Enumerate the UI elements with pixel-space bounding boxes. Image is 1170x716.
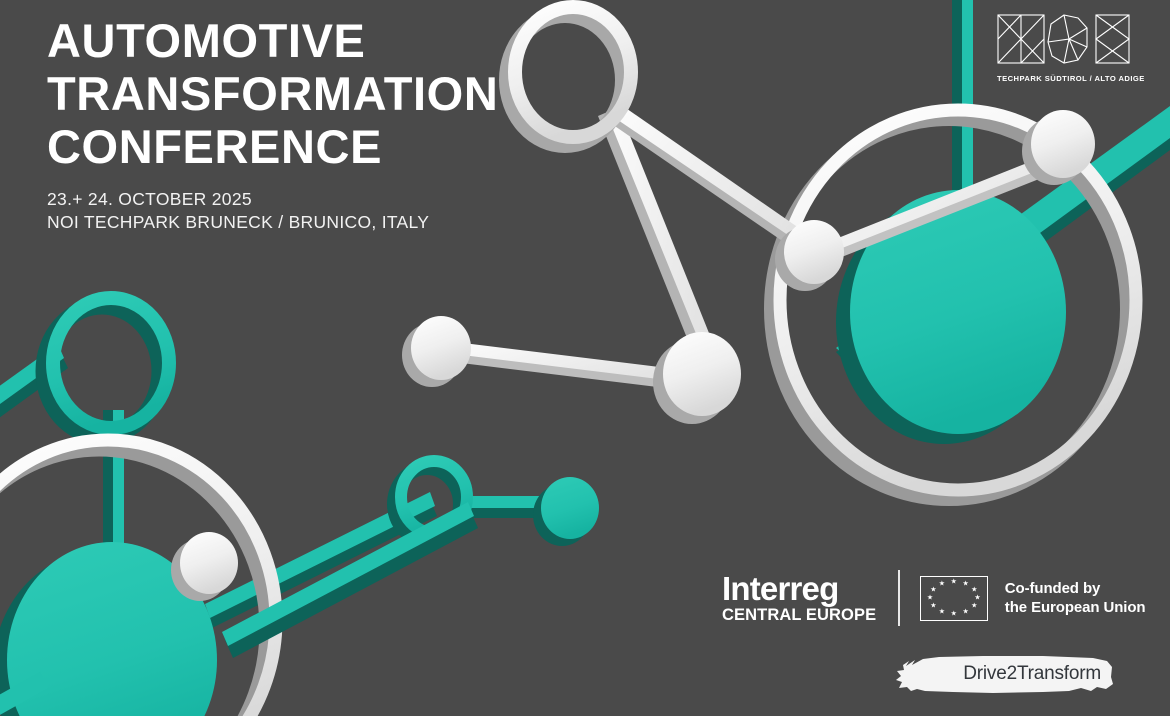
white-node-bottom-left [171,532,238,601]
european-union-flag-icon: ★ ★ ★ ★ ★ ★ ★ ★ ★ ★ ★ ★ [920,576,988,621]
noi-logo-caption: TECHPARK SÜDTIROL / ALTO ADIGE [997,74,1130,83]
cofunded-line-2: the European Union [1005,598,1146,617]
event-details: 23.+ 24. OCTOBER 2025 NOI TECHPARK BRUNE… [47,188,429,234]
noi-wordmark-icon [997,14,1130,66]
cofunded-text: Co-funded by the European Union [1005,579,1146,617]
headline-line-1: AUTOMOTIVE [47,14,687,67]
interreg-program-label: CENTRAL EUROPE [722,606,876,625]
interreg-label: Interreg [722,572,876,606]
teal-node-bottom-center [533,477,599,546]
noi-techpark-logo[interactable]: TECHPARK SÜDTIROL / ALTO ADIGE [997,14,1130,83]
white-node-center [653,332,741,424]
interreg-funding-block[interactable]: Interreg CENTRAL EUROPE ★ ★ ★ ★ ★ ★ ★ ★ … [722,570,1146,626]
page-title: AUTOMOTIVE TRANSFORMATION CONFERENCE [47,14,687,173]
event-venue: NOI TECHPARK BRUNECK / BRUNICO, ITALY [47,211,429,234]
conference-poster: AUTOMOTIVE TRANSFORMATION CONFERENCE 23.… [0,0,1170,716]
cofunded-line-1: Co-funded by [1005,579,1146,598]
headline-line-2: TRANSFORMATION [47,67,687,120]
white-node-left-center [402,316,471,387]
headline-line-3: CONFERENCE [47,120,687,173]
project-badge[interactable]: Drive2Transform [893,653,1115,695]
event-dates: 23.+ 24. OCTOBER 2025 [47,188,429,211]
interreg-wordmark: Interreg CENTRAL EUROPE [722,572,898,625]
project-badge-label: Drive2Transform [963,663,1101,685]
vertical-divider [898,570,900,626]
